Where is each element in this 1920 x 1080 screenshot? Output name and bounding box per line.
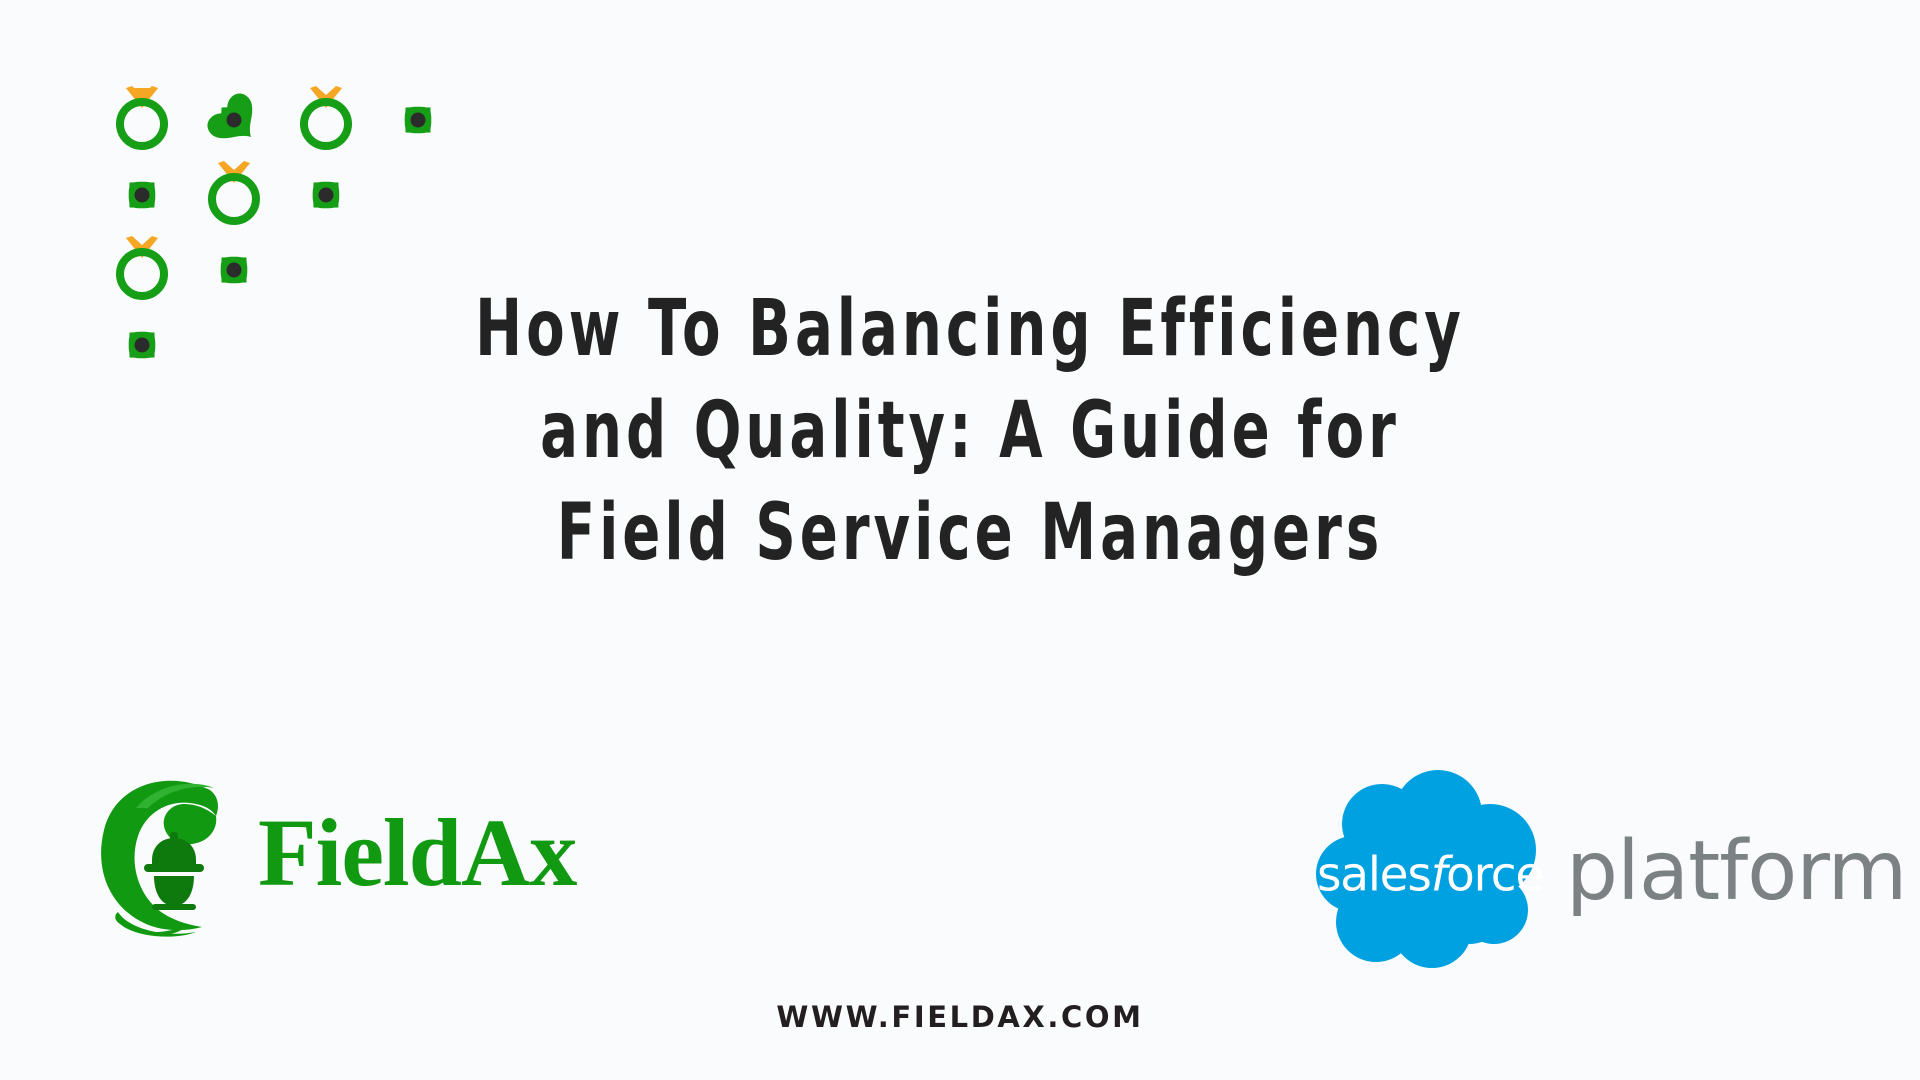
ring-icon xyxy=(188,153,280,228)
clover-icon xyxy=(188,78,280,153)
decoration-row xyxy=(96,78,516,153)
fieldax-swoosh-hardhat-icon xyxy=(92,772,252,940)
salesforce-wordmark-suffix: orce xyxy=(1446,848,1543,903)
salesforce-platform-logo: salesforce platform xyxy=(1308,770,1906,980)
clover-icon xyxy=(372,78,464,153)
salesforce-cloud-icon: salesforce xyxy=(1308,770,1558,980)
fieldax-logo: FieldAx xyxy=(92,772,576,940)
ring-icon xyxy=(96,228,188,303)
title-line-2: and Quality: A Guide for xyxy=(402,380,1538,482)
page-title: How To Balancing Efficiency and Quality:… xyxy=(260,278,1680,584)
hardhat-icon xyxy=(144,832,204,910)
salesforce-wordmark-italic-f: f xyxy=(1431,848,1446,903)
footer-website-url: WWW.FIELDAX.COM xyxy=(0,1000,1920,1034)
clover-icon xyxy=(280,153,372,228)
salesforce-wordmark-prefix: sales xyxy=(1317,848,1431,903)
clover-icon xyxy=(96,303,188,378)
fieldax-wordmark: FieldAx xyxy=(258,805,576,907)
platform-wordmark: platform xyxy=(1566,824,1906,927)
title-line-3: Field Service Managers xyxy=(402,482,1538,584)
clover-icon xyxy=(96,153,188,228)
decoration-row xyxy=(96,153,516,228)
ring-icon xyxy=(96,78,188,153)
ring-icon xyxy=(280,78,372,153)
title-line-1: How To Balancing Efficiency xyxy=(402,278,1538,380)
salesforce-wordmark: salesforce xyxy=(1308,848,1558,903)
